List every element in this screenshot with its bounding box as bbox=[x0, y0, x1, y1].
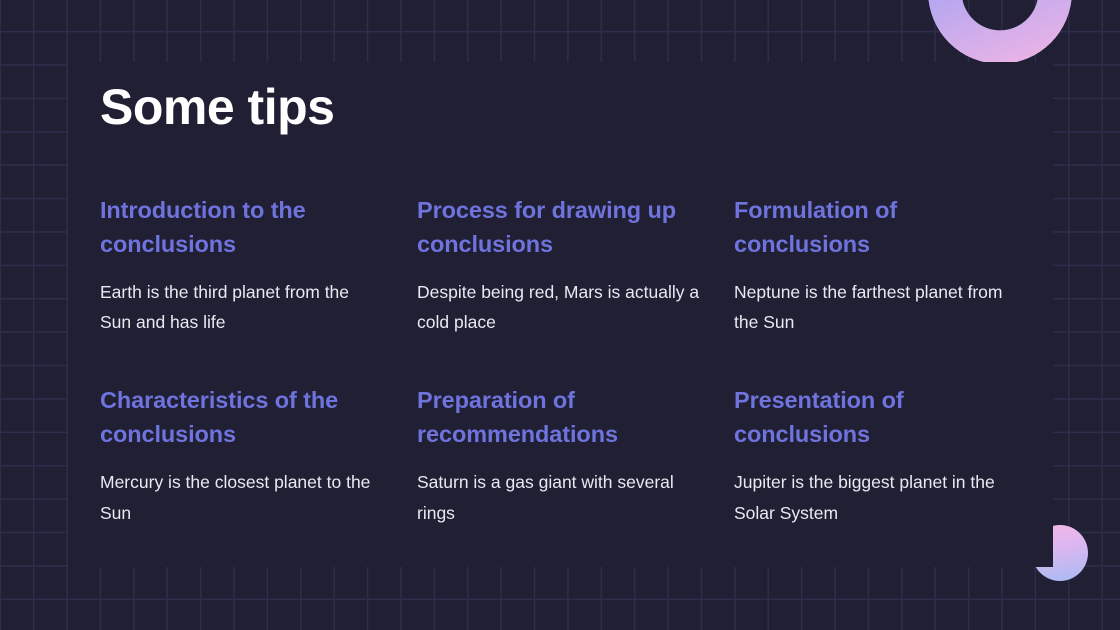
slide-canvas: Some tips Introduction to the conclusion… bbox=[0, 0, 1120, 630]
tip-body-5: Saturn is a gas giant with several rings bbox=[417, 467, 702, 527]
tip-heading-2: Process for drawing up conclusions bbox=[417, 193, 702, 261]
page-title: Some tips bbox=[100, 80, 1021, 135]
tip-heading-3: Formulation of conclusions bbox=[734, 193, 1019, 261]
tip-item-4: Characteristics of the conclusions Mercu… bbox=[100, 383, 385, 527]
tip-body-4: Mercury is the closest planet to the Sun bbox=[100, 467, 385, 527]
slide-content: Some tips Introduction to the conclusion… bbox=[68, 62, 1053, 567]
tip-body-1: Earth is the third planet from the Sun a… bbox=[100, 277, 385, 337]
tip-item-2: Process for drawing up conclusions Despi… bbox=[417, 193, 702, 337]
tip-heading-6: Presentation of conclusions bbox=[734, 383, 1019, 451]
tip-heading-5: Preparation of recommendations bbox=[417, 383, 702, 451]
tip-body-2: Despite being red, Mars is actually a co… bbox=[417, 277, 702, 337]
tip-body-3: Neptune is the farthest planet from the … bbox=[734, 277, 1019, 337]
tip-item-3: Formulation of conclusions Neptune is th… bbox=[734, 193, 1019, 337]
tip-item-1: Introduction to the conclusions Earth is… bbox=[100, 193, 385, 337]
tip-heading-1: Introduction to the conclusions bbox=[100, 193, 385, 261]
tip-item-5: Preparation of recommendations Saturn is… bbox=[417, 383, 702, 527]
tip-body-6: Jupiter is the biggest planet in the Sol… bbox=[734, 467, 1019, 527]
tip-item-6: Presentation of conclusions Jupiter is t… bbox=[734, 383, 1019, 527]
tips-grid: Introduction to the conclusions Earth is… bbox=[100, 193, 1021, 528]
tip-heading-4: Characteristics of the conclusions bbox=[100, 383, 385, 451]
